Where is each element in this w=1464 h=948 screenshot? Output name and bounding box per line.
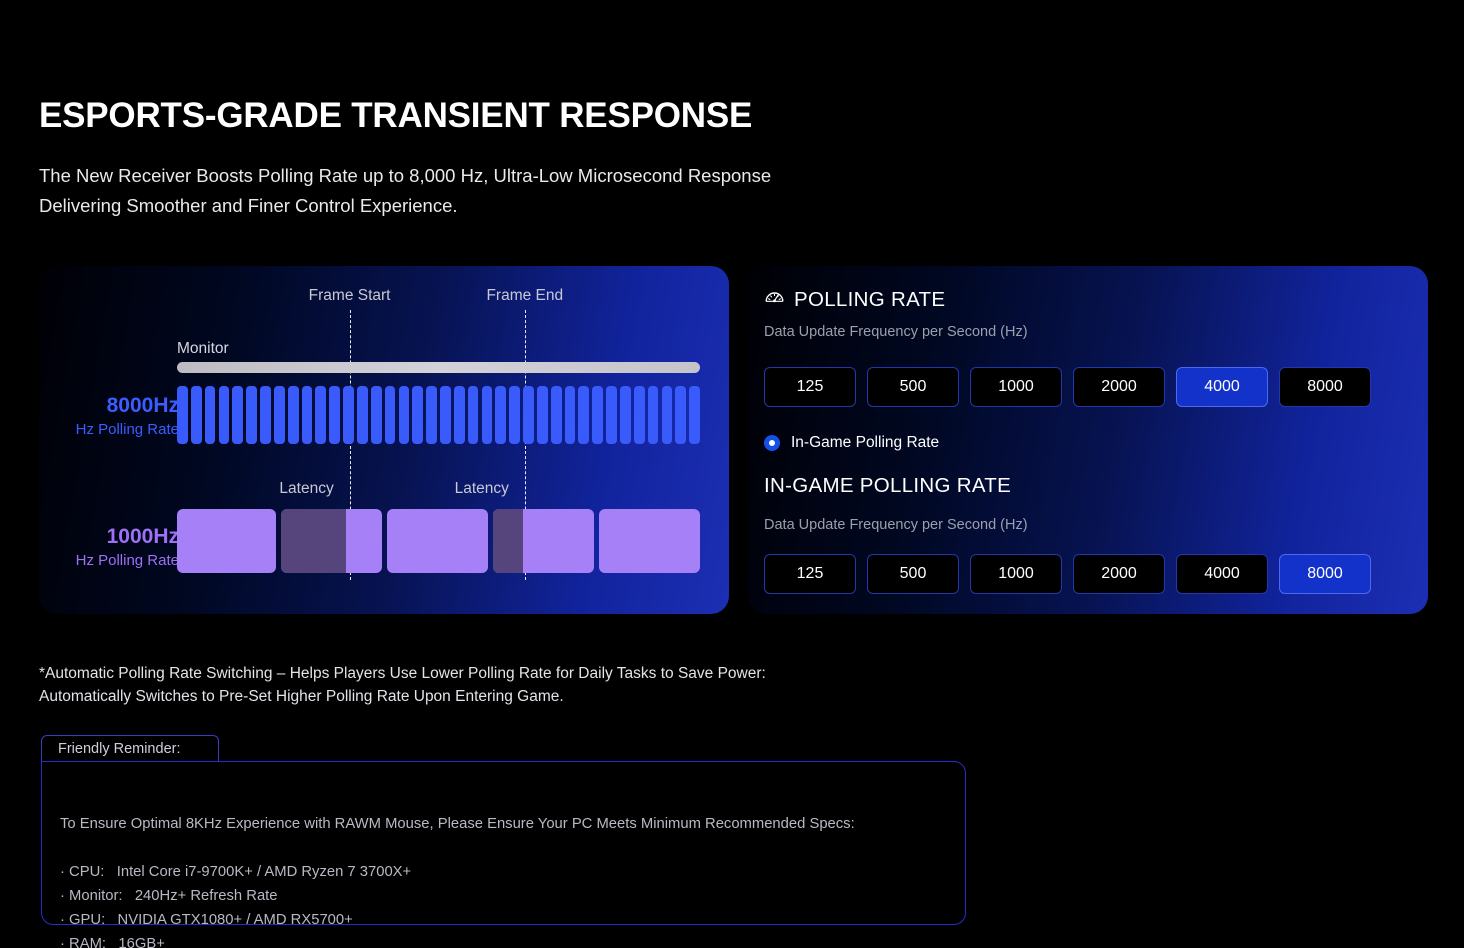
monitor-label: Monitor: [177, 340, 229, 358]
in-game-polling-rate-option-125[interactable]: 125: [764, 554, 856, 594]
polling-blocks-1000hz: [177, 509, 700, 573]
polling-tick: [177, 386, 188, 444]
polling-tick: [565, 386, 576, 444]
polling-tick: [662, 386, 673, 444]
polling-tick: [689, 386, 700, 444]
in-game-polling-rate-subtitle: Data Update Frequency per Second (Hz): [764, 517, 1028, 533]
series-8000hz-caption: Hz Polling Rate: [39, 419, 179, 441]
in-game-polling-rate-option-500[interactable]: 500: [867, 554, 959, 594]
polling-tick: [620, 386, 631, 444]
polling-rate-option-1000[interactable]: 1000: [970, 367, 1062, 407]
polling-rate-title-text: POLLING RATE: [794, 288, 945, 312]
polling-tick: [675, 386, 686, 444]
latency-label-2: Latency: [455, 480, 509, 498]
auto-switching-footnote: *Automatic Polling Rate Switching – Help…: [39, 663, 766, 708]
polling-rate-heading: POLLING RATE: [764, 286, 945, 313]
polling-tick: [371, 386, 382, 444]
latency-segment: [281, 509, 347, 573]
transient-response-chart-panel: Frame Start Frame End Monitor 8000Hz Hz …: [39, 266, 729, 614]
reminder-spec-item: · CPU: Intel Core i7-9700K+ / AMD Ryzen …: [60, 860, 855, 884]
polling-tick: [592, 386, 603, 444]
polling-tick: [648, 386, 659, 444]
polling-tick: [523, 386, 534, 444]
in-game-polling-rate-heading: IN-GAME POLLING RATE: [764, 474, 1011, 498]
polling-tick: [426, 386, 437, 444]
polling-tick: [315, 386, 326, 444]
polling-tick: [440, 386, 451, 444]
polling-tick: [578, 386, 589, 444]
polling-rate-option-125[interactable]: 125: [764, 367, 856, 407]
in-game-polling-rate-toggle-label: In-Game Polling Rate: [791, 434, 939, 452]
reminder-spec-item: · RAM: 16GB+: [60, 932, 855, 948]
polling-rate-settings-panel: POLLING RATE Data Update Frequency per S…: [748, 266, 1428, 614]
polling-tick: [495, 386, 506, 444]
polling-tick: [260, 386, 271, 444]
gauge-icon: [764, 286, 785, 313]
polling-tick: [399, 386, 410, 444]
latency-label-1: Latency: [279, 480, 333, 498]
polling-tick: [329, 386, 340, 444]
polling-tick: [454, 386, 465, 444]
polling-block: [493, 509, 594, 573]
series-1000hz-value: 1000Hz: [39, 524, 179, 550]
series-1000hz-caption: Hz Polling Rate: [39, 550, 179, 572]
polling-bars-8000hz: [177, 386, 700, 444]
friendly-reminder-box: Friendly Reminder: To Ensure Optimal 8KH…: [41, 735, 966, 925]
in-game-polling-rate-option-1000[interactable]: 1000: [970, 554, 1062, 594]
in-game-polling-rate-title-text: IN-GAME POLLING RATE: [764, 474, 1011, 498]
in-game-polling-rate-option-2000[interactable]: 2000: [1073, 554, 1165, 594]
reminder-spec-list: · CPU: Intel Core i7-9700K+ / AMD Ryzen …: [60, 860, 855, 948]
friendly-reminder-content: To Ensure Optimal 8KHz Experience with R…: [60, 788, 855, 948]
series-label-8000hz: 8000Hz Hz Polling Rate: [39, 393, 179, 441]
polling-rate-option-2000[interactable]: 2000: [1073, 367, 1165, 407]
polling-tick: [482, 386, 493, 444]
polling-tick: [468, 386, 479, 444]
polling-rate-option-8000[interactable]: 8000: [1279, 367, 1371, 407]
polling-tick: [246, 386, 257, 444]
latency-segment: [493, 509, 523, 573]
polling-tick: [634, 386, 645, 444]
polling-tick: [343, 386, 354, 444]
polling-rate-option-4000[interactable]: 4000: [1176, 367, 1268, 407]
in-game-polling-rate-option-4000[interactable]: 4000: [1176, 554, 1268, 594]
radio-icon[interactable]: [764, 435, 780, 451]
polling-tick: [551, 386, 562, 444]
page-title: ESPORTS-GRADE TRANSIENT RESPONSE: [39, 96, 752, 136]
polling-tick: [606, 386, 617, 444]
monitor-bar: [177, 362, 700, 373]
reminder-intro: To Ensure Optimal 8KHz Experience with R…: [60, 812, 855, 836]
reminder-spec-item: · GPU: NVIDIA GTX1080+ / AMD RX5700+: [60, 908, 855, 932]
polling-tick: [509, 386, 520, 444]
polling-tick: [537, 386, 548, 444]
polling-block: [177, 509, 276, 573]
polling-tick: [288, 386, 299, 444]
polling-tick: [232, 386, 243, 444]
polling-tick: [205, 386, 216, 444]
polling-tick: [357, 386, 368, 444]
friendly-reminder-tab: Friendly Reminder:: [41, 735, 219, 762]
polling-block: [599, 509, 700, 573]
in-game-polling-rate-toggle[interactable]: In-Game Polling Rate: [764, 434, 939, 452]
series-8000hz-value: 8000Hz: [39, 393, 179, 419]
frame-end-label: Frame End: [486, 287, 563, 305]
series-label-1000hz: 1000Hz Hz Polling Rate: [39, 524, 179, 572]
reminder-spec-item: · Monitor: 240Hz+ Refresh Rate: [60, 884, 855, 908]
in-game-polling-rate-option-8000[interactable]: 8000: [1279, 554, 1371, 594]
polling-block: [281, 509, 382, 573]
polling-tick: [302, 386, 313, 444]
polling-rate-options: 1255001000200040008000: [764, 367, 1371, 407]
in-game-polling-rate-options: 1255001000200040008000: [764, 554, 1371, 594]
polling-tick: [219, 386, 230, 444]
friendly-reminder-body: To Ensure Optimal 8KHz Experience with R…: [41, 761, 966, 925]
polling-tick: [385, 386, 396, 444]
frame-start-label: Frame Start: [309, 287, 391, 305]
polling-tick: [191, 386, 202, 444]
polling-rate-subtitle: Data Update Frequency per Second (Hz): [764, 324, 1028, 340]
page-subtitle: The New Receiver Boosts Polling Rate up …: [39, 161, 771, 221]
polling-tick: [274, 386, 285, 444]
polling-tick: [412, 386, 423, 444]
page-root: ESPORTS-GRADE TRANSIENT RESPONSE The New…: [0, 0, 1464, 948]
polling-block: [387, 509, 488, 573]
polling-rate-option-500[interactable]: 500: [867, 367, 959, 407]
